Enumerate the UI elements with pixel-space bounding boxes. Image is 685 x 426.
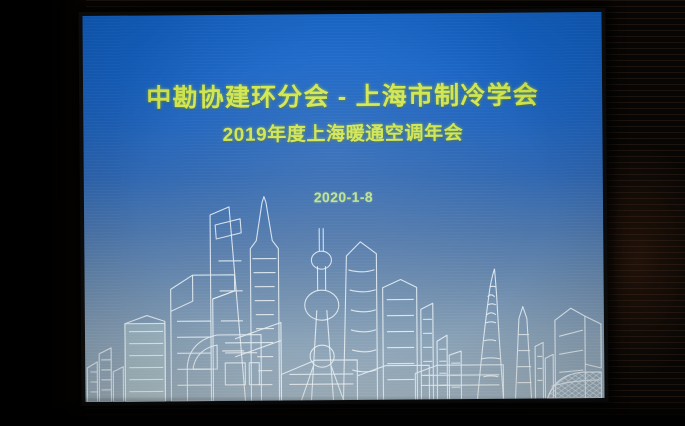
page-title: 中勘协建环分会 - 上海市制冷学会 <box>83 80 602 114</box>
room-scene: 中勘协建环分会 - 上海市制冷学会 2019年度上海暖通空调年会 2020-1-… <box>0 0 685 426</box>
floor-shadow <box>0 396 685 426</box>
presentation-slide[interactable]: 中勘协建环分会 - 上海市制冷学会 2019年度上海暖通空调年会 2020-1-… <box>82 12 604 402</box>
wall-left-dark-area <box>0 0 86 426</box>
slide-text-block: 中勘协建环分会 - 上海市制冷学会 2019年度上海暖通空调年会 2020-1-… <box>83 80 603 207</box>
projector-screen-frame: 中勘协建环分会 - 上海市制冷学会 2019年度上海暖通空调年会 2020-1-… <box>78 8 608 406</box>
page-subtitle: 2019年度上海暖通空调年会 <box>83 122 602 149</box>
